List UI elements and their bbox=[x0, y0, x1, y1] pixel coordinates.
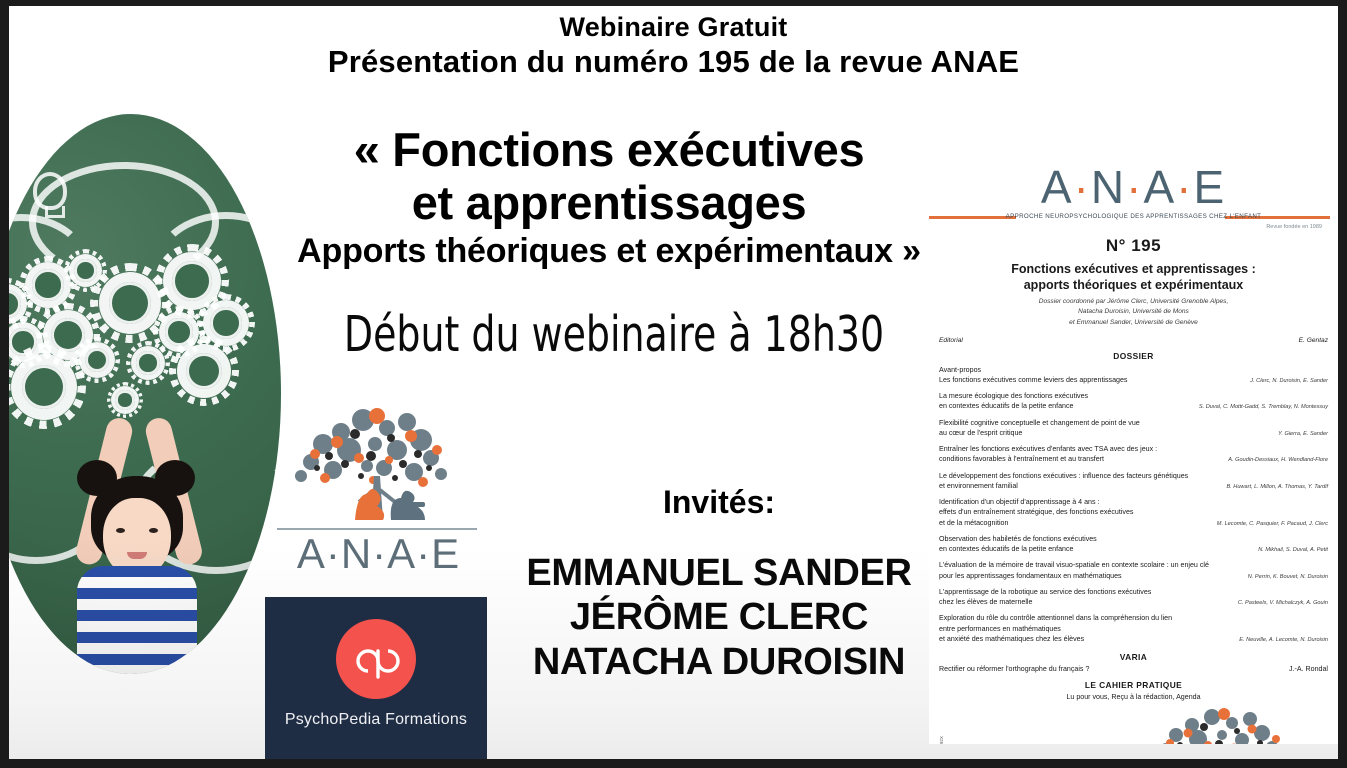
webinar-title: « Fonctions exécutives et apprentissages… bbox=[259, 124, 959, 275]
toc-entry: L'évaluation de la mémoire de travail vi… bbox=[939, 560, 1328, 581]
toc-entry-authors: B. Huwart, L. Millon, A. Thomas, Y. Tard… bbox=[1226, 484, 1328, 492]
toc-entry-line: La mesure écologique des fonctions exécu… bbox=[939, 391, 1328, 401]
guest-name: JÉRÔME CLERC bbox=[479, 595, 959, 639]
journal-tagline: APPROCHE NEUROPSYCHOLOGIQUE DES APPRENTI… bbox=[1006, 213, 1262, 220]
varia-entry: Rectifier ou réformer l'orthographe du f… bbox=[939, 665, 1328, 673]
toc-entry-line: Flexibilité cognitive conceptuelle et ch… bbox=[939, 418, 1328, 428]
toc-entry-line: Entraîner les fonctions exécutives d'enf… bbox=[939, 444, 1328, 454]
toc-entry-text: Observation des habiletés de fonctions e… bbox=[939, 535, 1097, 543]
journal-spine-text: ISSN 0999-792X bbox=[939, 736, 944, 744]
toc-entry-line: Les fonctions exécutives comme leviers d… bbox=[939, 375, 1328, 386]
toc-entry: Le développement des fonctions exécutive… bbox=[939, 471, 1328, 492]
header-line-2: Présentation du numéro 195 de la revue A… bbox=[9, 44, 1338, 81]
journal-masthead-title: A·N·A·E bbox=[1041, 160, 1226, 214]
toc-entry-line: en contextes éducatifs de la petite enfa… bbox=[939, 401, 1328, 412]
journal-cover-title-line-2: apports théoriques et expérimentaux bbox=[929, 278, 1338, 294]
toc-entry-text: en contextes éducatifs de la petite enfa… bbox=[939, 401, 1073, 411]
anae-logo: A·N·A·E bbox=[271, 398, 486, 578]
toc-entry-text: et anxiété des mathématiques chez les él… bbox=[939, 634, 1084, 644]
cahier-subtitle: Lu pour vous, Reçu à la rédaction, Agend… bbox=[929, 693, 1338, 701]
toc-entry-line: L'apprentissage de la robotique au servi… bbox=[939, 587, 1328, 597]
guests-list: EMMANUEL SANDER JÉRÔME CLERC NATACHA DUR… bbox=[479, 551, 959, 684]
toc-entry-text: et environnement familial bbox=[939, 481, 1018, 491]
toc-entry: Observation des habiletés de fonctions e… bbox=[939, 534, 1328, 555]
toc-entry-line: et anxiété des mathématiques chez les él… bbox=[939, 634, 1328, 645]
title-line-3: Apports théoriques et expérimentaux » bbox=[259, 229, 959, 275]
guest-name: NATACHA DUROISIN bbox=[479, 640, 959, 684]
toc-entry-authors: Y. Gierra, E. Sander bbox=[1278, 431, 1328, 439]
toc-entry-text: conditions favorables à l'entraînement e… bbox=[939, 454, 1104, 464]
editorial-label: Editorial bbox=[939, 337, 963, 344]
psychopedia-caption: PsychoPedia Formations bbox=[265, 711, 487, 729]
journal-founded-note: Revue fondée en 1989 bbox=[1266, 224, 1322, 230]
toc-entry-text: Exploration du rôle du contrôle attentio… bbox=[939, 614, 1172, 622]
toc-entry-text: Avant-propos bbox=[939, 366, 981, 374]
section-header-varia: VARIA bbox=[929, 652, 1338, 662]
toc-entry-line: Le développement des fonctions exécutive… bbox=[939, 471, 1328, 481]
psychopedia-monogram-icon bbox=[336, 619, 416, 699]
toc-entry-line: L'évaluation de la mémoire de travail vi… bbox=[939, 560, 1328, 570]
journal-issue-number: N° 195 bbox=[929, 236, 1338, 256]
psychopedia-circle bbox=[336, 619, 416, 699]
guests-label: Invités: bbox=[509, 484, 929, 521]
toc-entry: Exploration du rôle du contrôle attentio… bbox=[939, 613, 1328, 644]
coordinator-line: Dossier coordonné par Jérôme Clerc, Univ… bbox=[929, 297, 1338, 307]
toc-entry-authors: A. Goudin-Dessiaux, H. Wendland-Flore bbox=[1228, 457, 1328, 465]
toc-entry-text: Entraîner les fonctions exécutives d'enf… bbox=[939, 445, 1157, 453]
toc-entry-line: effets d'un entraînement stratégique, de… bbox=[939, 507, 1328, 517]
masthead-rule-left bbox=[929, 216, 1016, 219]
journal-coordinators: Dossier coordonné par Jérôme Clerc, Univ… bbox=[929, 297, 1338, 328]
toc-entry-authors: N. Mikhail, S. Duval, A. Petit bbox=[1258, 547, 1328, 555]
title-line-1: « Fonctions exécutives bbox=[259, 124, 959, 177]
toc-entry: La mesure écologique des fonctions exécu… bbox=[939, 391, 1328, 412]
toc-entry: L'apprentissage de la robotique au servi… bbox=[939, 587, 1328, 608]
toc-entry: Identification d'un objectif d'apprentis… bbox=[939, 497, 1328, 528]
coordinator-line: et Emmanuel Sander, Université de Genève bbox=[929, 318, 1338, 328]
journal-cover-title-line-1: Fonctions exécutives et apprentissages : bbox=[929, 262, 1338, 278]
toc-entry-line: entre performances en mathématiques bbox=[939, 624, 1328, 634]
journal-table-of-contents: Avant-proposLes fonctions exécutives com… bbox=[939, 365, 1328, 645]
toc-entry-authors: J. Clerc, N. Duroisin, E. Sander bbox=[1250, 378, 1328, 386]
toc-entry-line: et de la métacognitionM. Lecomte, C. Pas… bbox=[939, 518, 1328, 529]
title-line-2: et apprentissages bbox=[259, 177, 959, 230]
toc-entry-text: au cœur de l'esprit critique bbox=[939, 428, 1022, 438]
toc-entry: Flexibilité cognitive conceptuelle et ch… bbox=[939, 418, 1328, 439]
journal-anae-tree-icon bbox=[1134, 703, 1314, 744]
start-time-text: Début du webinaire à 18h30 bbox=[309, 306, 920, 363]
toc-entry-text: effets d'un entraînement stratégique, de… bbox=[939, 508, 1133, 516]
toc-entry-line: en contextes éducatifs de la petite enfa… bbox=[939, 544, 1328, 555]
toc-entry-authors: C. Pasteels, V. Michalczyk, A. Gouin bbox=[1238, 600, 1328, 608]
toc-entry-text: La mesure écologique des fonctions exécu… bbox=[939, 392, 1088, 400]
toc-entry-text: L'évaluation de la mémoire de travail vi… bbox=[939, 561, 1209, 569]
section-header-dossier: DOSSIER bbox=[929, 351, 1338, 361]
toc-entry-line: Observation des habiletés de fonctions e… bbox=[939, 534, 1328, 544]
toc-entry-authors: M. Lecomte, C. Pasquier, F. Pacaud, J. C… bbox=[1217, 521, 1328, 529]
toc-entry-line: Avant-propos bbox=[939, 365, 1328, 375]
toc-entry-authors: N. Perrin, K. Bouvet, N. Duroisin bbox=[1248, 574, 1328, 582]
journal-editorial-row: Editorial E. Gentaz bbox=[939, 337, 1328, 344]
anae-tree-icon bbox=[271, 398, 486, 530]
toc-entry-line: chez les élèves de maternelleC. Pasteels… bbox=[939, 597, 1328, 608]
toc-entry-line: conditions favorables à l'entraînement e… bbox=[939, 454, 1328, 465]
toc-entry-line: Exploration du rôle du contrôle attentio… bbox=[939, 613, 1328, 623]
varia-entry-title: Rectifier ou réformer l'orthographe du f… bbox=[939, 665, 1089, 673]
journal-masthead: A·N·A·E APPROCHE NEUROPSYCHOLOGIQUE DES … bbox=[929, 158, 1338, 234]
toc-entry-text: Les fonctions exécutives comme leviers d… bbox=[939, 375, 1127, 385]
slide-header: Webinaire Gratuit Présentation du numéro… bbox=[9, 12, 1338, 80]
toc-entry-text: L'apprentissage de la robotique au servi… bbox=[939, 588, 1151, 596]
toc-entry-authors: E. Neuville, A. Lecomte, N. Duroisin bbox=[1239, 637, 1328, 645]
toc-entry-text: Flexibilité cognitive conceptuelle et ch… bbox=[939, 419, 1140, 427]
webinar-slide: Webinaire Gratuit Présentation du numéro… bbox=[9, 6, 1338, 759]
toc-entry: Entraîner les fonctions exécutives d'enf… bbox=[939, 444, 1328, 465]
toc-entry: Avant-proposLes fonctions exécutives com… bbox=[939, 365, 1328, 386]
section-header-cahier: LE CAHIER PRATIQUE bbox=[929, 680, 1338, 690]
journal-tree-area: N° 195 - Avril 2025 - Volume 37 - Tome I… bbox=[929, 703, 1338, 744]
journal-cover-title: Fonctions exécutives et apprentissages :… bbox=[929, 262, 1338, 293]
toc-entry-line: et environnement familialB. Huwart, L. M… bbox=[939, 481, 1328, 492]
toc-entry-text: et de la métacognition bbox=[939, 518, 1008, 528]
guest-name: EMMANUEL SANDER bbox=[479, 551, 959, 595]
toc-entry-text: chez les élèves de maternelle bbox=[939, 597, 1032, 607]
toc-entry-text: en contextes éducatifs de la petite enfa… bbox=[939, 544, 1073, 554]
varia-entry-authors: J.-A. Rondal bbox=[1289, 665, 1328, 673]
toc-entry-text: Le développement des fonctions exécutive… bbox=[939, 472, 1188, 480]
psychopedia-logo: PsychoPedia Formations bbox=[265, 597, 487, 759]
journal-cover: A·N·A·E APPROCHE NEUROPSYCHOLOGIQUE DES … bbox=[929, 158, 1338, 744]
photo-vignette bbox=[9, 114, 281, 674]
coordinator-line: Natacha Duroisin, Université de Mons bbox=[929, 307, 1338, 317]
toc-entry-text: pour les apprentissages fondamentaux en … bbox=[939, 571, 1122, 581]
editorial-author: E. Gentaz bbox=[1299, 337, 1328, 344]
toc-entry-line: pour les apprentissages fondamentaux en … bbox=[939, 571, 1328, 582]
toc-entry-text: Identification d'un objectif d'apprentis… bbox=[939, 498, 1099, 506]
header-line-1: Webinaire Gratuit bbox=[9, 12, 1338, 44]
toc-entry-authors: S. Duval, C. Mottt-Gadd, S. Tremblay, N.… bbox=[1199, 404, 1328, 412]
anae-wordmark: A·N·A·E bbox=[271, 530, 486, 578]
toc-entry-line: Identification d'un objectif d'apprentis… bbox=[939, 497, 1328, 507]
chalkboard-photo bbox=[9, 114, 281, 674]
toc-entry-text: entre performances en mathématiques bbox=[939, 625, 1061, 633]
toc-entry-line: au cœur de l'esprit critiqueY. Gierra, E… bbox=[939, 428, 1328, 439]
